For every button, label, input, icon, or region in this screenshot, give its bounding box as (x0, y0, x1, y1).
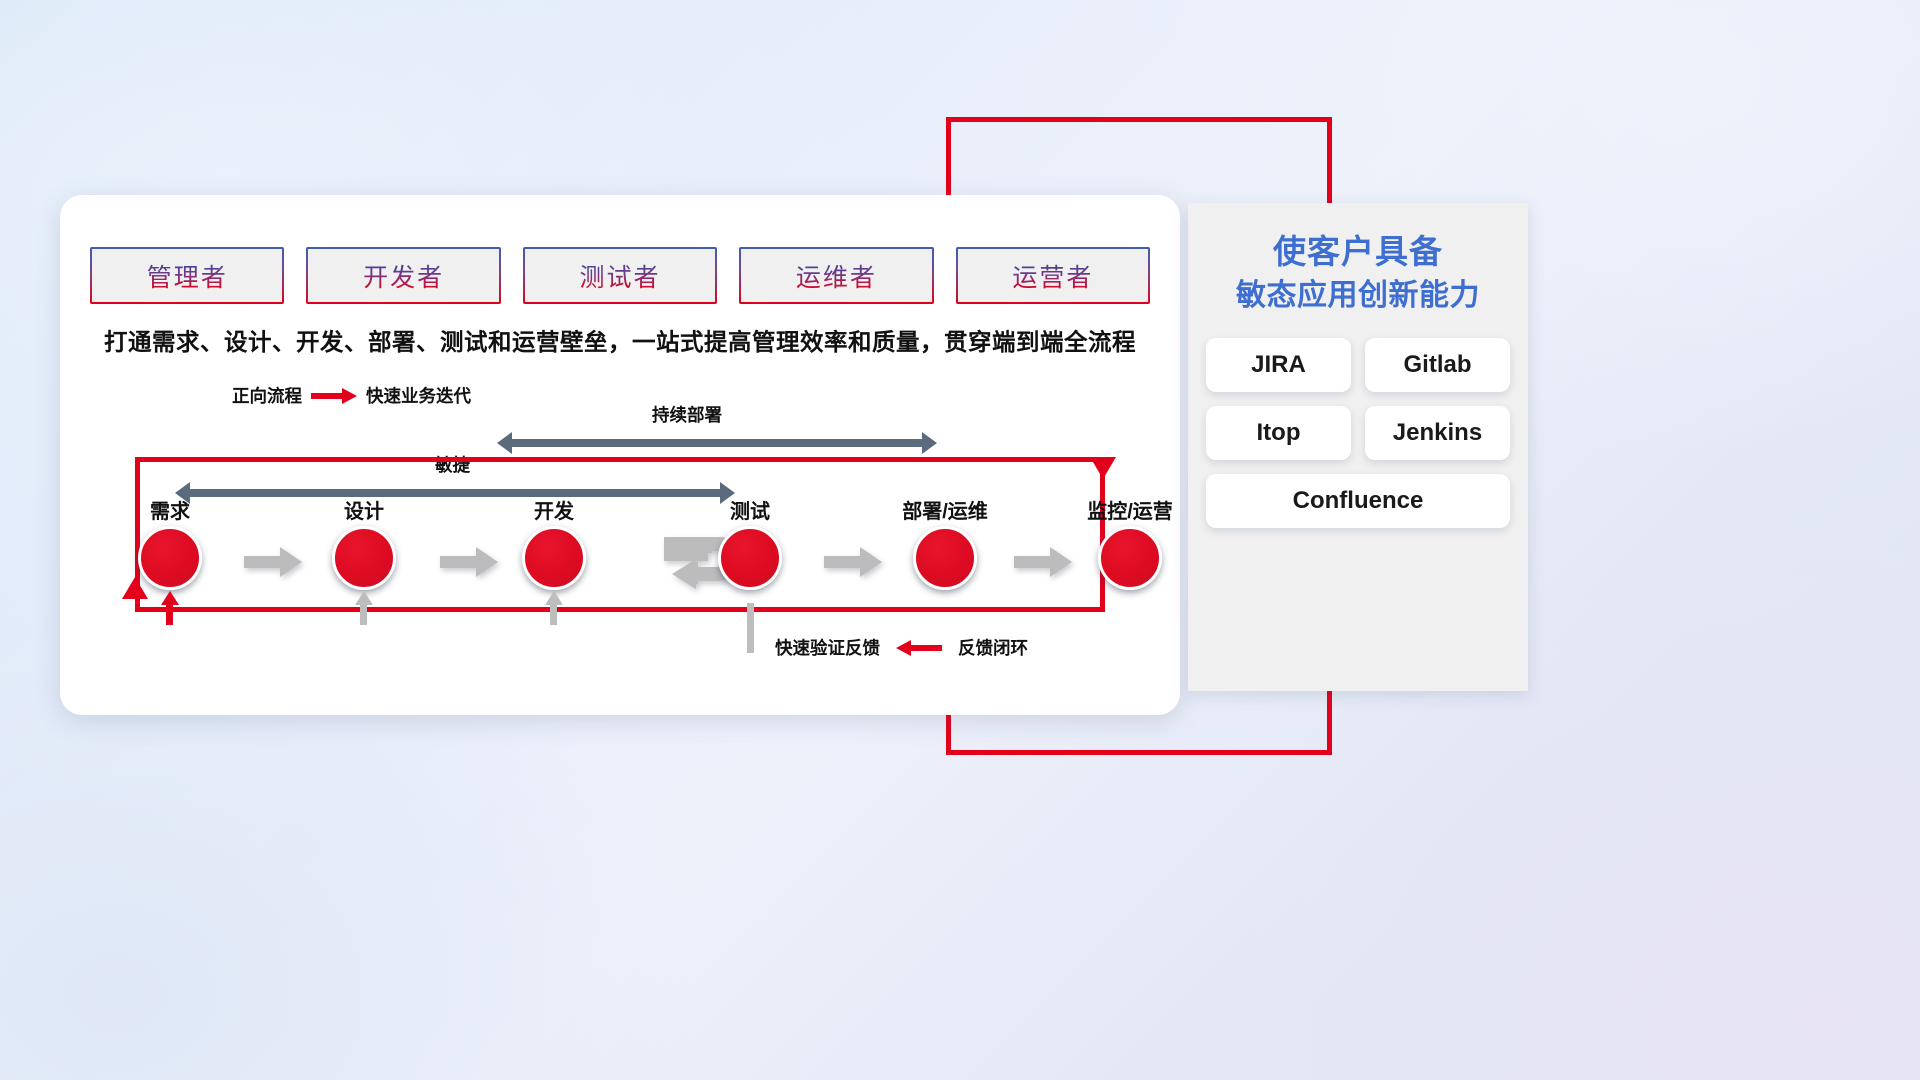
pipeline-row: 需求 设计 开发 (102, 495, 1142, 615)
stage-dot (332, 526, 396, 590)
role-box-inner: 管理者 (92, 249, 282, 302)
stage-dot (913, 526, 977, 590)
stage-dot (522, 526, 586, 590)
stage-stem-requirement (166, 603, 173, 625)
role-box-operations[interactable]: 运营者 (956, 247, 1150, 304)
stage-label: 开发 (494, 495, 614, 524)
legend-forward-left-label: 正向流程 (232, 383, 302, 408)
double-arrow-continuous-deployment-icon (497, 432, 937, 454)
role-box-manager[interactable]: 管理者 (90, 247, 284, 304)
stage-testing[interactable]: 测试 (690, 495, 810, 590)
role-box-inner: 运维者 (741, 249, 931, 302)
arrow-right-gray-icon (1014, 547, 1072, 577)
legend-feedback-right-label: 反馈闭环 (958, 635, 1028, 660)
stage-dot (718, 526, 782, 590)
role-box-ops[interactable]: 运维者 (739, 247, 933, 304)
role-box-inner: 开发者 (308, 249, 498, 302)
role-label: 运营者 (1012, 258, 1093, 294)
description-text: 打通需求、设计、开发、部署、测试和运营壁垒，一站式提高管理效率和质量，贯穿端到端… (60, 323, 1180, 357)
role-label: 测试者 (580, 258, 661, 294)
stage-stem-head-requirement (161, 591, 179, 605)
label-continuous-deployment: 持续部署 (652, 402, 722, 427)
tools-panel: 使客户具备 敏态应用创新能力 JIRA Gitlab Itop Jenkins … (1188, 203, 1528, 691)
role-label: 运维者 (796, 258, 877, 294)
role-label: 管理者 (147, 258, 228, 294)
loop-arrow-down-icon (1090, 457, 1116, 479)
stage-label: 需求 (110, 495, 230, 524)
stage-stem-design (360, 603, 367, 625)
arrow-right-gray-icon (440, 547, 498, 577)
stage-monitor-operations[interactable]: 监控/运营 (1070, 495, 1190, 590)
role-box-developer[interactable]: 开发者 (306, 247, 500, 304)
arrow-left-red-icon (896, 640, 942, 656)
panel-title: 使客户具备 敏态应用创新能力 (1188, 203, 1528, 316)
role-label: 开发者 (363, 258, 444, 294)
panel-title-line1: 使客户具备 (1188, 229, 1528, 275)
role-box-tester[interactable]: 测试者 (523, 247, 717, 304)
tool-chip-itop[interactable]: Itop (1206, 406, 1351, 460)
tool-chip-list: JIRA Gitlab Itop Jenkins Confluence (1188, 316, 1528, 528)
stage-requirement[interactable]: 需求 (110, 495, 230, 590)
arrow-right-gray-icon (244, 547, 302, 577)
arrow-right-red-icon (311, 388, 357, 404)
main-content-card: 管理者 开发者 测试者 运维者 运营者 (60, 195, 1180, 715)
stage-development[interactable]: 开发 (494, 495, 614, 590)
stage-design[interactable]: 设计 (304, 495, 424, 590)
slide-canvas: 管理者 开发者 测试者 运维者 运营者 (0, 0, 1920, 1080)
panel-title-line2: 敏态应用创新能力 (1188, 275, 1528, 316)
legend-feedback-left-label: 快速验证反馈 (775, 635, 880, 660)
legend-forward-flow: 正向流程 快速业务迭代 (232, 383, 471, 408)
stage-label: 部署/运维 (885, 495, 1005, 524)
tool-chip-gitlab[interactable]: Gitlab (1365, 338, 1510, 392)
stage-deploy-ops[interactable]: 部署/运维 (885, 495, 1005, 590)
legend-forward-right-label: 快速业务迭代 (366, 383, 471, 408)
tool-chip-confluence[interactable]: Confluence (1206, 474, 1510, 528)
stage-label: 监控/运营 (1070, 495, 1190, 524)
stage-label: 测试 (690, 495, 810, 524)
legend-feedback-loop: 快速验证反馈 反馈闭环 (775, 635, 1028, 660)
stage-stem-head-design (355, 591, 373, 605)
tool-chip-jira[interactable]: JIRA (1206, 338, 1351, 392)
role-box-inner: 运营者 (958, 249, 1148, 302)
stage-stem-head-development (545, 591, 563, 605)
stage-stem-development (550, 603, 557, 625)
stage-dot (138, 526, 202, 590)
tool-chip-jenkins[interactable]: Jenkins (1365, 406, 1510, 460)
role-box-inner: 测试者 (525, 249, 715, 302)
stage-dot (1098, 526, 1162, 590)
stage-stem-testing (747, 603, 754, 653)
role-box-row: 管理者 开发者 测试者 运维者 运营者 (90, 247, 1150, 304)
stage-label: 设计 (304, 495, 424, 524)
arrow-right-gray-icon (824, 547, 882, 577)
